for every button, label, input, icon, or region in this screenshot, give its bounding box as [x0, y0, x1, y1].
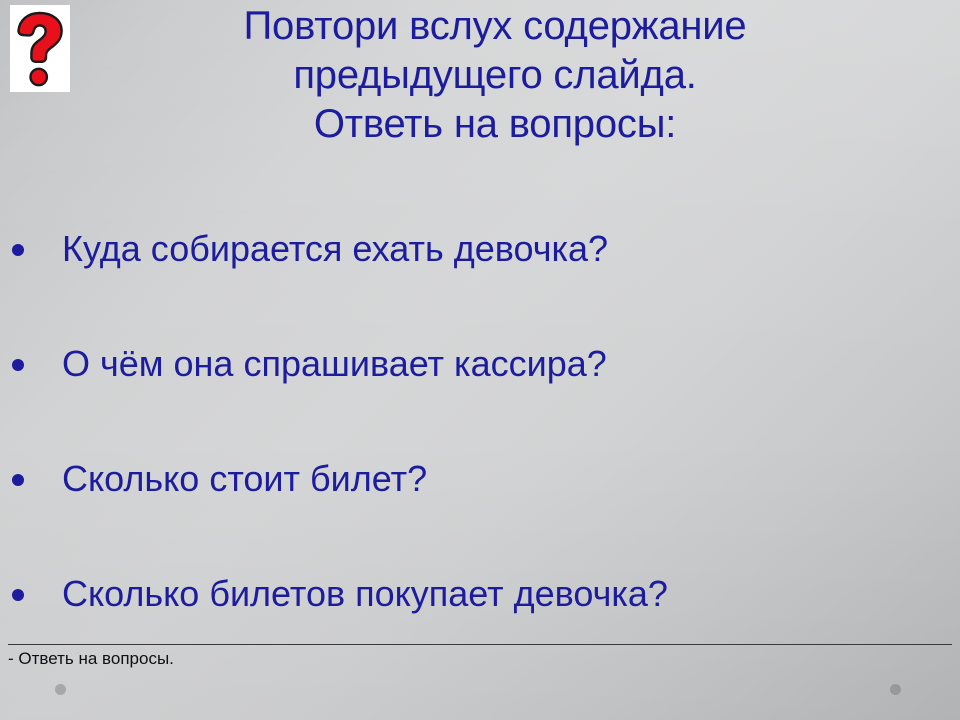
footer-note: - Ответь на вопросы.: [8, 648, 174, 670]
slide-title: Повтори вслух содержание предыдущего сла…: [80, 2, 910, 149]
decorative-dot-left: [55, 684, 66, 695]
question-text-4: Сколько билетов покупает девочка?: [62, 567, 668, 617]
bullet-dot-icon: [0, 222, 62, 256]
question-mark-icon: [15, 11, 65, 87]
bullet-dot-icon: [0, 452, 62, 486]
title-line-2: предыдущего слайда.: [80, 51, 910, 100]
question-text-1: Куда собирается ехать девочка?: [62, 222, 608, 272]
question-text-3: Сколько стоит билет?: [62, 452, 427, 502]
slide-canvas: Повтори вслух содержание предыдущего сла…: [0, 0, 960, 720]
footer-divider: [8, 644, 952, 645]
decorative-dot-right: [890, 684, 901, 695]
question-mark-image: [10, 5, 70, 92]
list-item: Сколько стоит билет?: [0, 452, 960, 567]
title-line-1: Повтори вслух содержание: [80, 2, 910, 51]
bullet-dot-icon: [0, 337, 62, 371]
question-list: Куда собирается ехать девочка? О чём она…: [0, 222, 960, 682]
title-line-3: Ответь на вопросы:: [80, 100, 910, 149]
question-text-2: О чём она спрашивает кассира?: [62, 337, 607, 387]
list-item: О чём она спрашивает кассира?: [0, 337, 960, 452]
bullet-dot-icon: [0, 567, 62, 601]
list-item: Куда собирается ехать девочка?: [0, 222, 960, 337]
